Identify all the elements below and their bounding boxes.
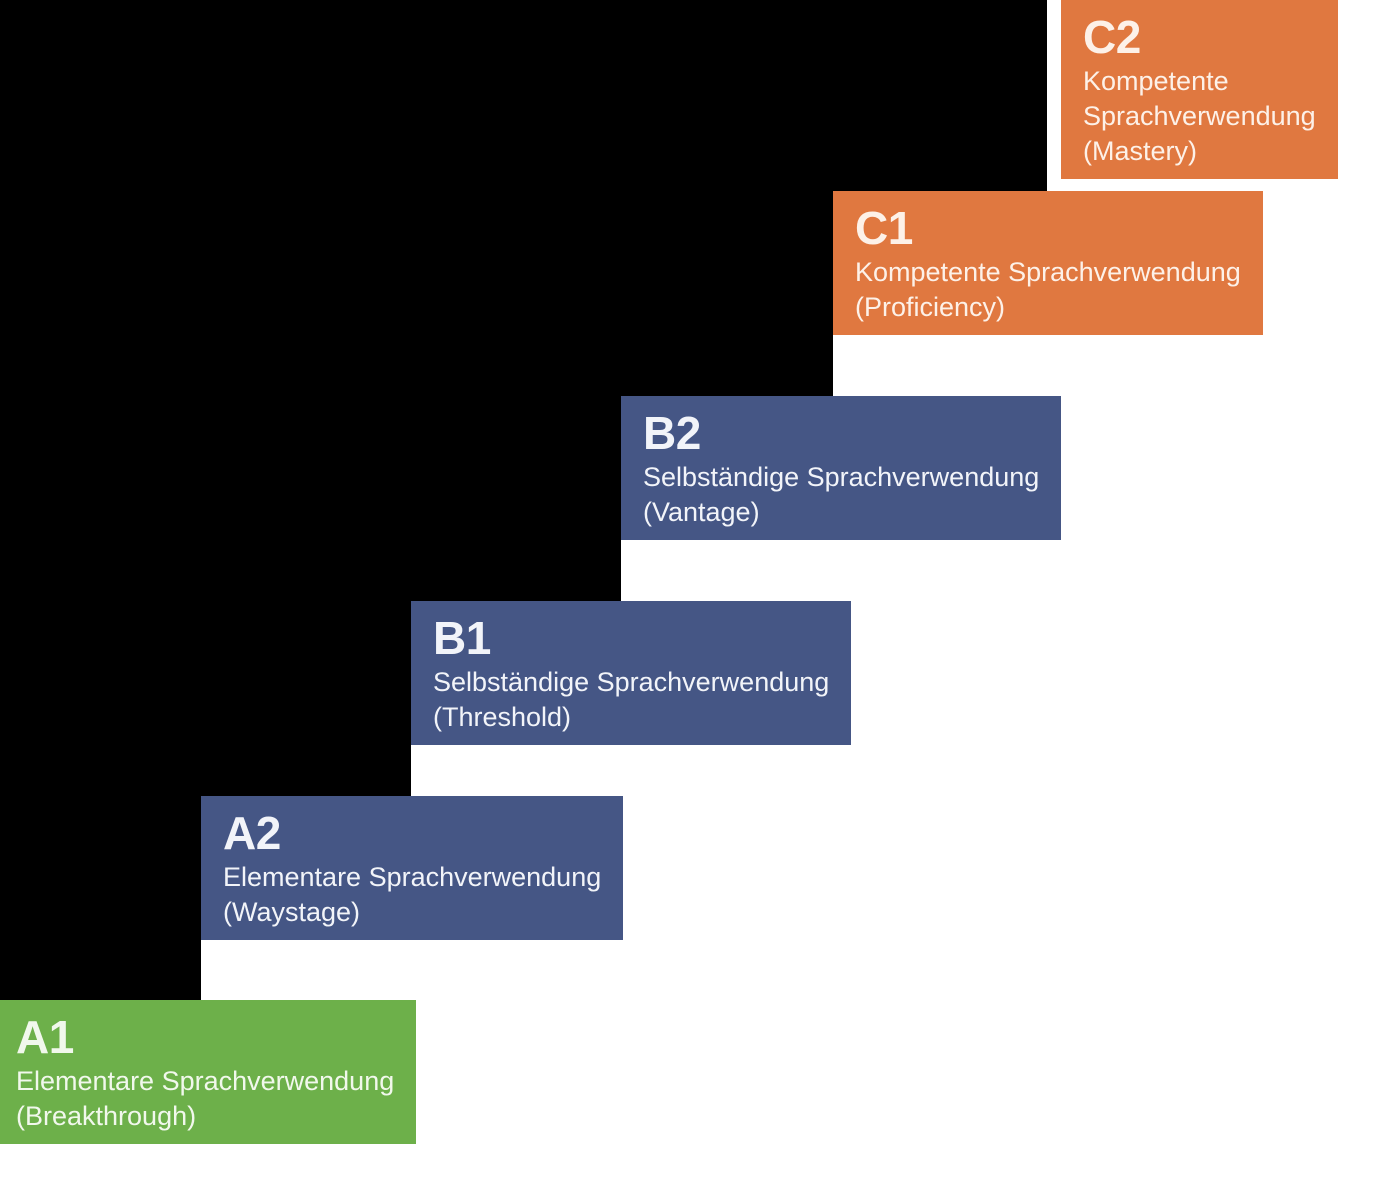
level-description-c1: Kompetente Sprachverwendung (Proficiency… (855, 255, 1241, 325)
level-panel-b1: B1 Selbständige Sprachverwendung (Thresh… (411, 601, 851, 745)
level-code-a2: A2 (223, 810, 601, 856)
level-step-a2: A2 Elementare Sprachverwendung (Waystage… (201, 796, 1379, 1012)
level-step-b1: B1 Selbständige Sprachverwendung (Thresh… (411, 601, 1379, 813)
level-step-b2: B2 Selbständige Sprachverwendung (Vantag… (621, 396, 1379, 608)
level-code-c1: C1 (855, 205, 1241, 251)
level-code-b1: B1 (433, 615, 829, 661)
level-description-b2: Selbständige Sprachverwendung (Vantage) (643, 460, 1039, 530)
level-panel-b2: B2 Selbständige Sprachverwendung (Vantag… (621, 396, 1061, 540)
cefr-staircase-diagram: C2 Kompetente Sprachverwendung (Mastery)… (0, 0, 1379, 1200)
level-description-a1: Elementare Sprachverwendung (Breakthroug… (16, 1064, 394, 1134)
level-panel-c1: C1 Kompetente Sprachverwendung (Proficie… (833, 191, 1263, 335)
level-description-c2: Kompetente Sprachverwendung (Mastery) (1083, 64, 1316, 169)
level-description-b1: Selbständige Sprachverwendung (Threshold… (433, 665, 829, 735)
level-code-b2: B2 (643, 410, 1039, 456)
level-panel-a2: A2 Elementare Sprachverwendung (Waystage… (201, 796, 623, 940)
level-description-a2: Elementare Sprachverwendung (Waystage) (223, 860, 601, 930)
level-step-a1: A1 Elementare Sprachverwendung (Breakthr… (0, 1000, 1379, 1200)
level-code-c2: C2 (1083, 14, 1316, 60)
level-panel-c2: C2 Kompetente Sprachverwendung (Mastery) (1061, 0, 1338, 179)
level-step-c1: C1 Kompetente Sprachverwendung (Proficie… (833, 191, 1379, 403)
level-code-a1: A1 (16, 1014, 394, 1060)
level-step-c2: C2 Kompetente Sprachverwendung (Mastery) (1047, 0, 1379, 198)
level-panel-a1: A1 Elementare Sprachverwendung (Breakthr… (0, 1000, 416, 1144)
